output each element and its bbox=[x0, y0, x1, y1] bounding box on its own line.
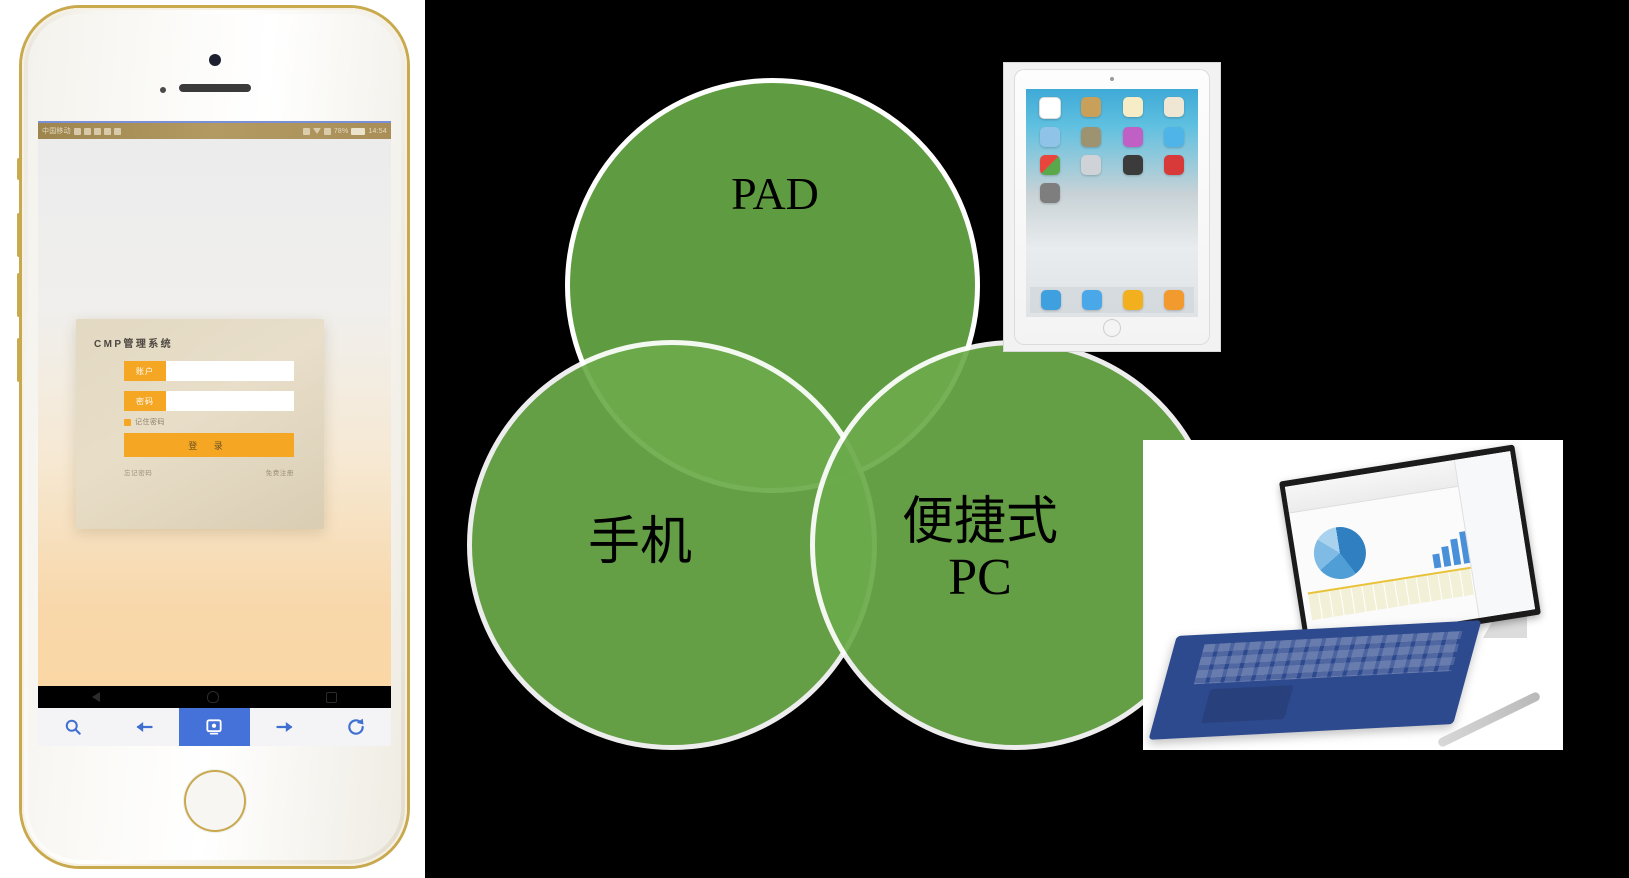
left-panel: 中国移动 78% 14:54 bbox=[0, 0, 425, 878]
app-icon-camera[interactable] bbox=[1081, 127, 1101, 147]
register-link[interactable]: 免费注册 bbox=[266, 467, 294, 477]
keyboard-keys bbox=[1194, 631, 1463, 684]
bar bbox=[1441, 546, 1451, 567]
app-icon-settings[interactable] bbox=[1081, 155, 1101, 175]
surface-display bbox=[1285, 451, 1535, 645]
surface-screen bbox=[1279, 444, 1541, 651]
status-bar-right-icons: 78% 14:54 bbox=[303, 128, 387, 135]
ipad-dock bbox=[1030, 287, 1194, 313]
username-field-row: 账户 bbox=[124, 361, 294, 381]
android-navigation-bar bbox=[38, 686, 391, 708]
back-icon[interactable] bbox=[92, 692, 100, 702]
app-icon-notes[interactable] bbox=[1123, 97, 1143, 117]
recents-icon[interactable] bbox=[326, 692, 337, 703]
bookmark-icon bbox=[204, 717, 224, 737]
message-icon bbox=[94, 128, 101, 135]
app-icon-itunes[interactable] bbox=[1123, 127, 1143, 147]
page-title: CMP管理系统 bbox=[94, 335, 173, 350]
dock-icon-photos[interactable] bbox=[1123, 290, 1143, 310]
checkbox-icon[interactable] bbox=[124, 419, 131, 426]
alarm-icon bbox=[104, 128, 111, 135]
app-icon-appstore[interactable] bbox=[1164, 127, 1184, 147]
ipad-screen bbox=[1026, 89, 1198, 317]
bar bbox=[1450, 539, 1461, 566]
right-panel: PAD 手机 便捷式 PC bbox=[425, 0, 1629, 878]
toolbar-bookmark-button[interactable] bbox=[179, 708, 250, 746]
status-bar-left-icons: 中国移动 bbox=[42, 128, 121, 135]
smartphone-device: 中国移动 78% 14:54 bbox=[22, 8, 407, 866]
form-links: 忘记密码 免费注册 bbox=[124, 467, 294, 477]
dock-icon-safari[interactable] bbox=[1041, 290, 1061, 310]
ipad-home-button[interactable] bbox=[1103, 319, 1121, 337]
venn-label-pad: PAD bbox=[635, 170, 915, 219]
wifi-icon bbox=[313, 128, 321, 134]
ipad-photo bbox=[1003, 62, 1221, 352]
app-icon-gamecenter[interactable] bbox=[1040, 155, 1060, 175]
back-arrow-icon bbox=[134, 717, 154, 737]
password-input[interactable] bbox=[166, 391, 294, 411]
surface-type-cover bbox=[1149, 620, 1482, 740]
username-label: 账户 bbox=[124, 361, 166, 381]
bluetooth-icon bbox=[303, 128, 310, 135]
calendar-icon bbox=[114, 128, 121, 135]
carrier-label: 中国移动 bbox=[42, 128, 71, 135]
side-button[interactable] bbox=[17, 338, 21, 382]
volume-down-button[interactable] bbox=[17, 273, 21, 317]
app-icon-contacts[interactable] bbox=[1081, 97, 1101, 117]
password-label: 密码 bbox=[124, 391, 166, 411]
username-input[interactable] bbox=[166, 361, 294, 381]
notification-icon bbox=[74, 128, 81, 135]
trackpad bbox=[1201, 685, 1294, 723]
venn-label-phone: 手机 bbox=[505, 515, 775, 570]
app-icon-newsstand[interactable] bbox=[1040, 183, 1060, 203]
earpiece-speaker bbox=[179, 84, 251, 92]
app-icon-videos[interactable] bbox=[1164, 155, 1184, 175]
toolbar-forward-button[interactable] bbox=[250, 708, 321, 746]
app-icon-calendar[interactable] bbox=[1039, 97, 1061, 119]
remember-password-label: 记住密码 bbox=[135, 417, 165, 427]
login-button[interactable]: 登 录 bbox=[124, 433, 294, 457]
app-icon-camera2[interactable] bbox=[1123, 155, 1143, 175]
ipad-app-grid bbox=[1032, 97, 1192, 203]
login-card: CMP管理系统 账户 密码 记住密码 bbox=[76, 319, 324, 529]
bar bbox=[1432, 553, 1441, 568]
sync-icon bbox=[84, 128, 91, 135]
forgot-password-link[interactable]: 忘记密码 bbox=[124, 467, 152, 477]
refresh-icon bbox=[346, 717, 366, 737]
venn-label-pc: 便捷式 PC bbox=[855, 495, 1105, 605]
volume-up-button[interactable] bbox=[17, 213, 21, 257]
screenshot-root: 中国移动 78% 14:54 bbox=[0, 0, 1629, 878]
pie-chart-icon bbox=[1310, 523, 1369, 582]
password-field-row: 密码 bbox=[124, 391, 294, 411]
toolbar-refresh-button[interactable] bbox=[320, 708, 391, 746]
mute-switch[interactable] bbox=[17, 158, 21, 180]
home-icon[interactable] bbox=[207, 691, 219, 703]
toolbar-search-button[interactable] bbox=[38, 708, 109, 746]
app-content: CMP管理系统 账户 密码 记住密码 bbox=[38, 139, 391, 746]
remember-password-row[interactable]: 记住密码 bbox=[124, 417, 165, 427]
phone-screen: 中国移动 78% 14:54 bbox=[38, 121, 391, 746]
dock-icon-mail[interactable] bbox=[1082, 290, 1102, 310]
proximity-sensor-icon bbox=[160, 87, 166, 93]
clock-label: 14:54 bbox=[368, 128, 387, 135]
ipad-body bbox=[1014, 69, 1210, 345]
forward-arrow-icon bbox=[275, 717, 295, 737]
app-icon-reminders[interactable] bbox=[1164, 97, 1184, 117]
surface-pro-photo bbox=[1143, 440, 1563, 750]
signal-icon bbox=[324, 128, 331, 135]
app-icon-photos[interactable] bbox=[1040, 127, 1060, 147]
status-bar: 中国移动 78% 14:54 bbox=[38, 123, 391, 139]
dock-icon-music[interactable] bbox=[1164, 290, 1184, 310]
toolbar-back-button[interactable] bbox=[109, 708, 180, 746]
battery-icon bbox=[351, 128, 365, 135]
search-icon bbox=[63, 717, 83, 737]
battery-percent-label: 78% bbox=[334, 128, 349, 135]
ipad-camera-icon bbox=[1110, 77, 1114, 81]
front-camera-icon bbox=[209, 54, 221, 66]
browser-toolbar bbox=[38, 708, 391, 746]
home-button[interactable] bbox=[184, 770, 246, 832]
